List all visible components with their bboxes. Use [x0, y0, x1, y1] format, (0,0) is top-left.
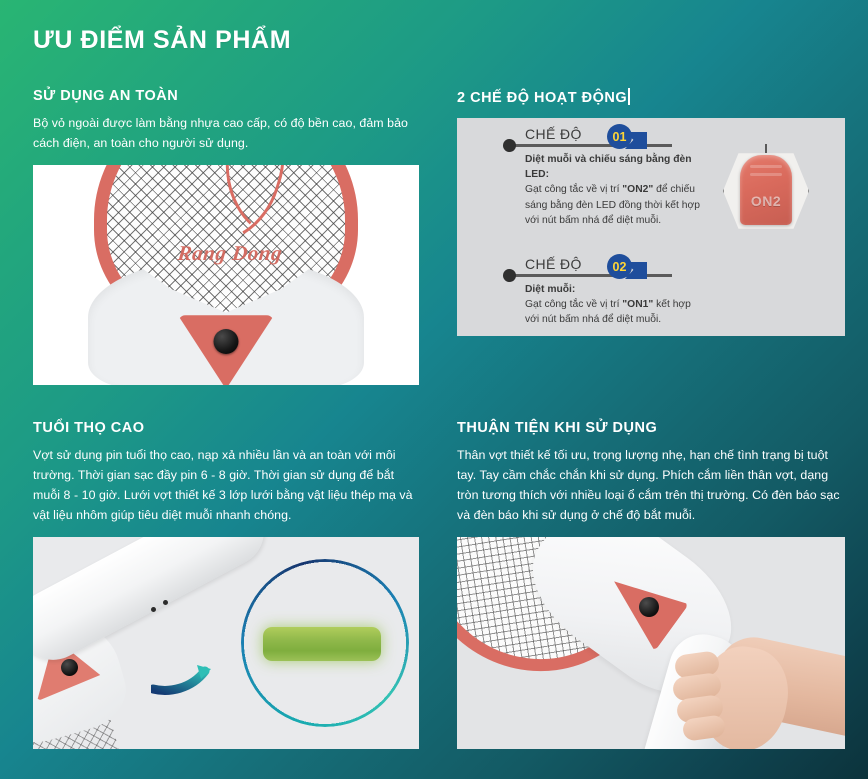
mode-01-number-badge: 01	[607, 124, 632, 149]
mode-02-number-badge: 02	[607, 254, 632, 279]
mode-02-rule-line	[509, 274, 672, 277]
green-led-indicator	[263, 627, 381, 661]
mode-01-rule-line	[509, 144, 672, 147]
long-life-body: Vợt sử dụng pin tuổi thọ cao, nạp xả nhi…	[33, 445, 419, 525]
section-safe-use: SỬ DỤNG AN TOÀN Bộ vỏ ngoài được làm bằn…	[33, 88, 419, 385]
switch-stem	[765, 144, 767, 153]
safe-use-body: Bộ vỏ ngoài được làm bằng nhựa cao cấp, …	[33, 113, 419, 153]
mode-02-quoted-value: "ON1"	[622, 299, 653, 310]
mode-01-label: CHẾ ĐỘ	[525, 126, 582, 142]
long-life-heading: TUỔI THỌ CAO	[33, 420, 419, 436]
indicator-dot-2	[163, 600, 168, 605]
switch-on2-label: ON2	[740, 193, 792, 209]
safe-use-heading: SỬ DỤNG AN TOÀN	[33, 88, 419, 104]
racket-illustration: Rang Dong	[76, 165, 376, 385]
zoom-arrow-icon	[151, 663, 221, 699]
mode-01-badge-row: CHẾ ĐỘ 01	[503, 126, 845, 152]
section-two-modes: 2 CHẾ ĐỘ HOẠT ĐỘNG CHẾ ĐỘ 01 Diệt muỗi v…	[457, 88, 845, 336]
switch-ridge-b	[750, 173, 782, 176]
section-convenient: THUẬN TIỆN KHI SỬ DỤNG Thân vợt thiết kế…	[457, 420, 845, 749]
racket-head-photo: Rang Dong	[33, 165, 419, 385]
mode-block-02: CHẾ ĐỘ 02 Diệt muỗi:Gạt công tắc về vị t…	[457, 256, 845, 328]
section-long-life: TUỔI THỌ CAO Vợt sử dụng pin tuổi thọ ca…	[33, 420, 419, 749]
switch-ridge-a	[750, 165, 782, 168]
racket-handle	[33, 537, 276, 672]
mode-02-text: Diệt muỗi:Gạt công tắc về vị trí "ON1" k…	[525, 282, 705, 328]
convenient-body: Thân vợt thiết kế tối ưu, trọng lượng nh…	[457, 445, 845, 525]
indicator-dot-1	[151, 607, 156, 612]
racket-brand-text: Rang Dong	[159, 241, 302, 266]
mode-01-bullet-dot	[503, 139, 516, 152]
handle-led-zoom-photo	[33, 537, 419, 749]
modes-info-panel: CHẾ ĐỘ 01 Diệt muỗi và chiếu sáng bằng đ…	[457, 118, 845, 336]
mode-02-badge-row: CHẾ ĐỘ 02	[503, 256, 845, 282]
mode-02-label: CHẾ ĐỘ	[525, 256, 582, 272]
switch-key-on2: ON2	[740, 155, 792, 225]
racket-power-button	[214, 329, 239, 354]
convenient-heading: THUẬN TIỆN KHI SỬ DỤNG	[457, 420, 845, 436]
page-title: ƯU ĐIỂM SẢN PHẨM	[33, 26, 291, 55]
mode-02-body-before: Gạt công tắc về vị trí	[525, 299, 622, 310]
mode-01-title: Diệt muỗi và chiếu sáng bằng đèn LED:	[525, 152, 705, 182]
mode-block-01: CHẾ ĐỘ 01 Diệt muỗi và chiếu sáng bằng đ…	[457, 126, 845, 228]
mode-02-title: Diệt muỗi:	[525, 282, 705, 297]
mode-02-bullet-dot	[503, 269, 516, 282]
product-advantages-page: ƯU ĐIỂM SẢN PHẨM SỬ DỤNG AN TOÀN Bộ vỏ n…	[0, 0, 868, 779]
two-modes-heading: 2 CHẾ ĐỘ HOẠT ĐỘNG	[457, 88, 845, 106]
hand-holding-racket-photo: Rang Dong	[457, 537, 845, 749]
mode-01-body-before: Gạt công tắc về vị trí	[525, 184, 622, 195]
two-modes-heading-text: 2 CHẾ ĐỘ HOẠT ĐỘNG	[457, 90, 627, 106]
mode-01-quoted-value: "ON2"	[622, 184, 653, 195]
mode-01-text: Diệt muỗi và chiếu sáng bằng đèn LED:Gạt…	[525, 152, 705, 228]
text-cursor-caret	[628, 88, 630, 105]
switch-on2-photo: ON2	[723, 150, 809, 232]
